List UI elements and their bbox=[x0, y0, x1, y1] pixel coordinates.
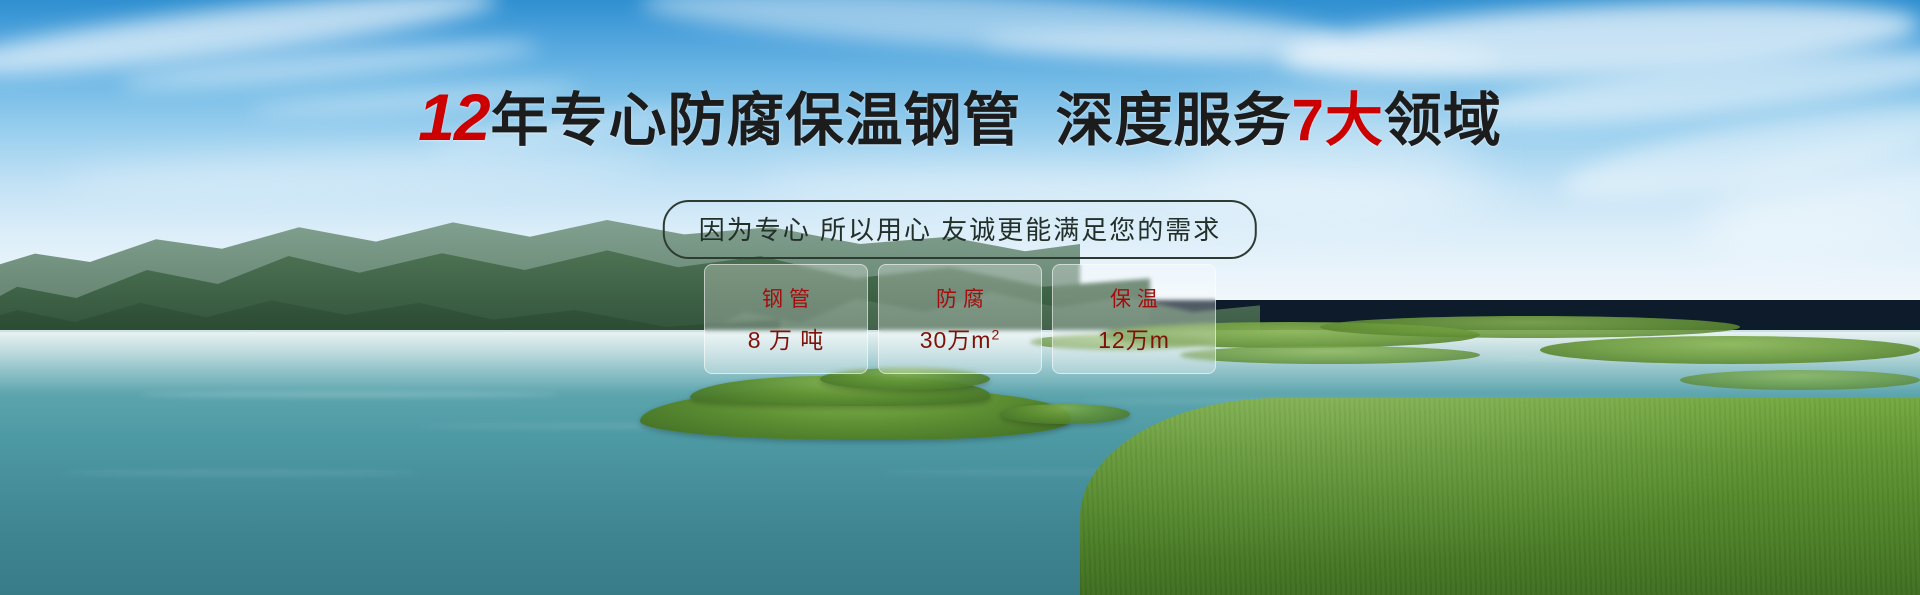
marsh-strip bbox=[1180, 346, 1480, 364]
marsh-strip bbox=[1320, 316, 1740, 338]
stat-cards: 钢管 8 万 吨 防腐 30万m2 保温 12万m bbox=[704, 264, 1216, 374]
headline-fields-count: 7大 bbox=[1292, 88, 1384, 153]
grass-texture bbox=[1080, 398, 1920, 595]
headline-service-prefix: 深度服务 bbox=[1056, 88, 1292, 153]
water-ripple bbox=[60, 470, 420, 476]
subtitle-pill: 因为专心 所以用心 友诚更能满足您的需求 bbox=[663, 200, 1257, 259]
hero-banner: 12年专心防腐保温钢管深度服务7大领域 因为专心 所以用心 友诚更能满足您的需求… bbox=[0, 0, 1920, 595]
stat-card-label: 钢管 bbox=[756, 283, 816, 313]
stat-card-insulation: 保温 12万m bbox=[1052, 264, 1216, 374]
stat-card-steel-pipe: 钢管 8 万 吨 bbox=[704, 264, 868, 374]
stat-card-value-text: 8 万 吨 bbox=[748, 327, 825, 353]
headline-years-number: 12 bbox=[418, 80, 489, 154]
grass-island-tail bbox=[1000, 404, 1130, 424]
stat-card-anticorrosion: 防腐 30万m2 bbox=[878, 264, 1042, 374]
stat-card-value: 12万m bbox=[1098, 321, 1170, 355]
headline: 12年专心防腐保温钢管深度服务7大领域 bbox=[0, 84, 1920, 150]
stat-card-value-text: 30万m bbox=[920, 327, 992, 353]
stat-card-value: 8 万 吨 bbox=[748, 321, 825, 355]
stat-card-value: 30万m2 bbox=[920, 321, 1001, 355]
stat-card-value-text: 12万m bbox=[1098, 327, 1170, 353]
stat-card-label: 防腐 bbox=[930, 283, 990, 313]
water-ripple bbox=[140, 392, 560, 397]
stat-card-label: 保温 bbox=[1104, 283, 1164, 313]
headline-fields-suffix: 领域 bbox=[1384, 88, 1502, 153]
marsh-strip bbox=[1680, 370, 1920, 390]
headline-main-text: 年专心防腐保温钢管 bbox=[491, 88, 1022, 153]
marsh-strip bbox=[1540, 336, 1920, 364]
stat-card-value-sup: 2 bbox=[991, 326, 1000, 342]
